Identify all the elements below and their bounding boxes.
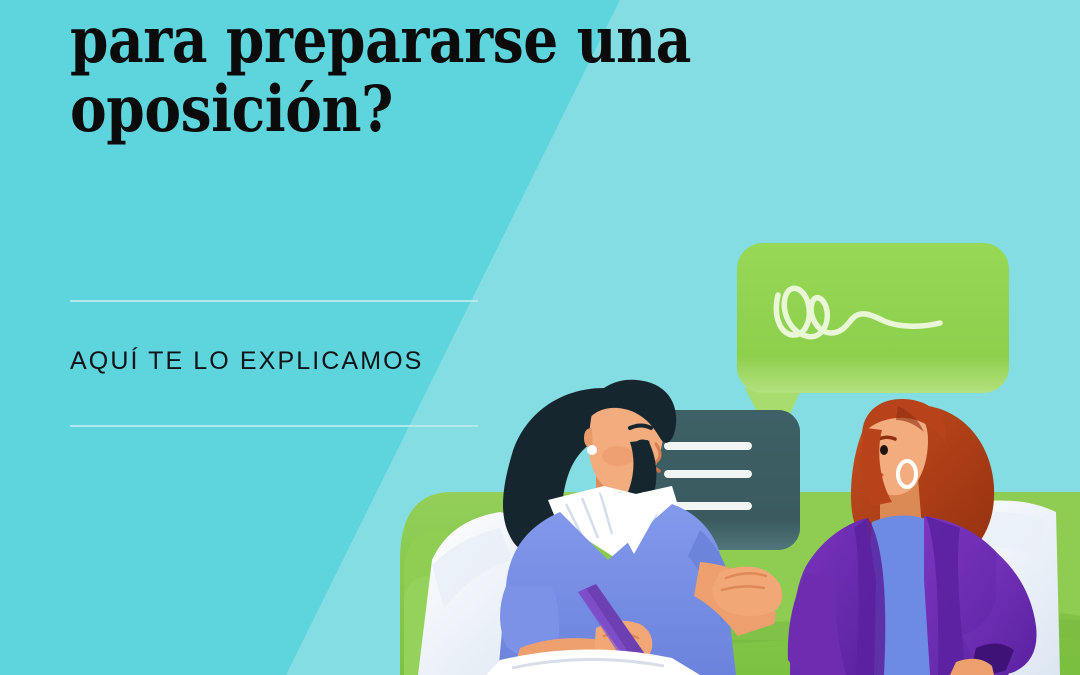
banner-canvas: para prepararse una oposición? AQUÍ TE L… [0,0,1080,675]
divider-bottom [70,425,478,427]
page-title: para prepararse una oposición? [70,6,775,144]
divider-top [70,300,478,302]
subtitle: AQUÍ TE LO EXPLICAMOS [70,347,423,376]
